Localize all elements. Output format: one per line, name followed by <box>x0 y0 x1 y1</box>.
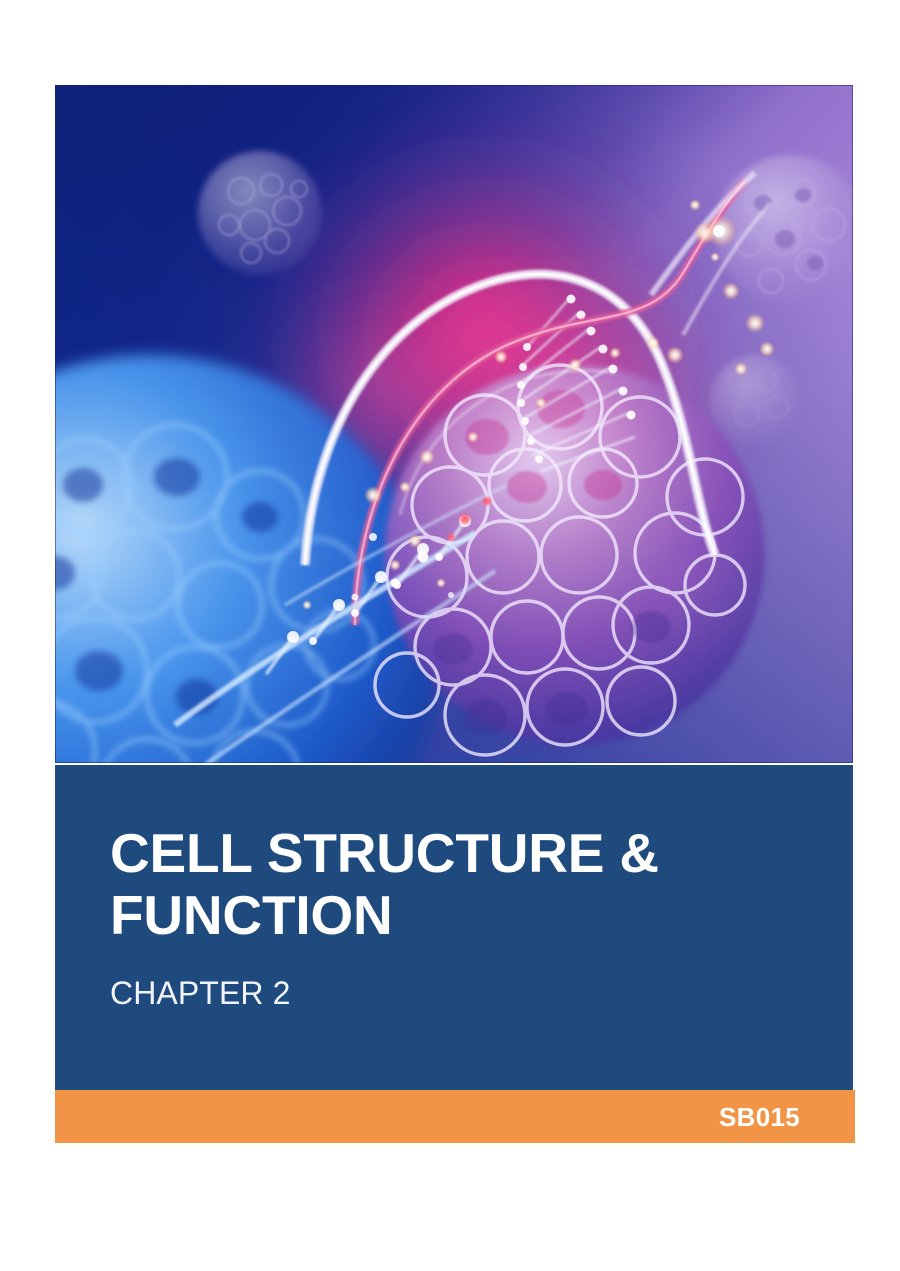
cover-page: CELL STRUCTURE & FUNCTION CHAPTER 2 SB01… <box>0 0 900 1271</box>
page-title: CELL STRUCTURE & FUNCTION <box>110 823 805 946</box>
chapter-subtitle: CHAPTER 2 <box>110 946 805 1011</box>
cell-dna-illustration <box>55 85 853 763</box>
course-code-label: SB015 <box>719 1104 800 1130</box>
cell-sphere-top-left <box>198 151 322 275</box>
hero-image <box>55 85 853 763</box>
title-panel: CELL STRUCTURE & FUNCTION CHAPTER 2 <box>55 765 853 1090</box>
footer-bar: SB015 <box>55 1090 855 1143</box>
cell-sphere-mid-right <box>710 355 800 445</box>
